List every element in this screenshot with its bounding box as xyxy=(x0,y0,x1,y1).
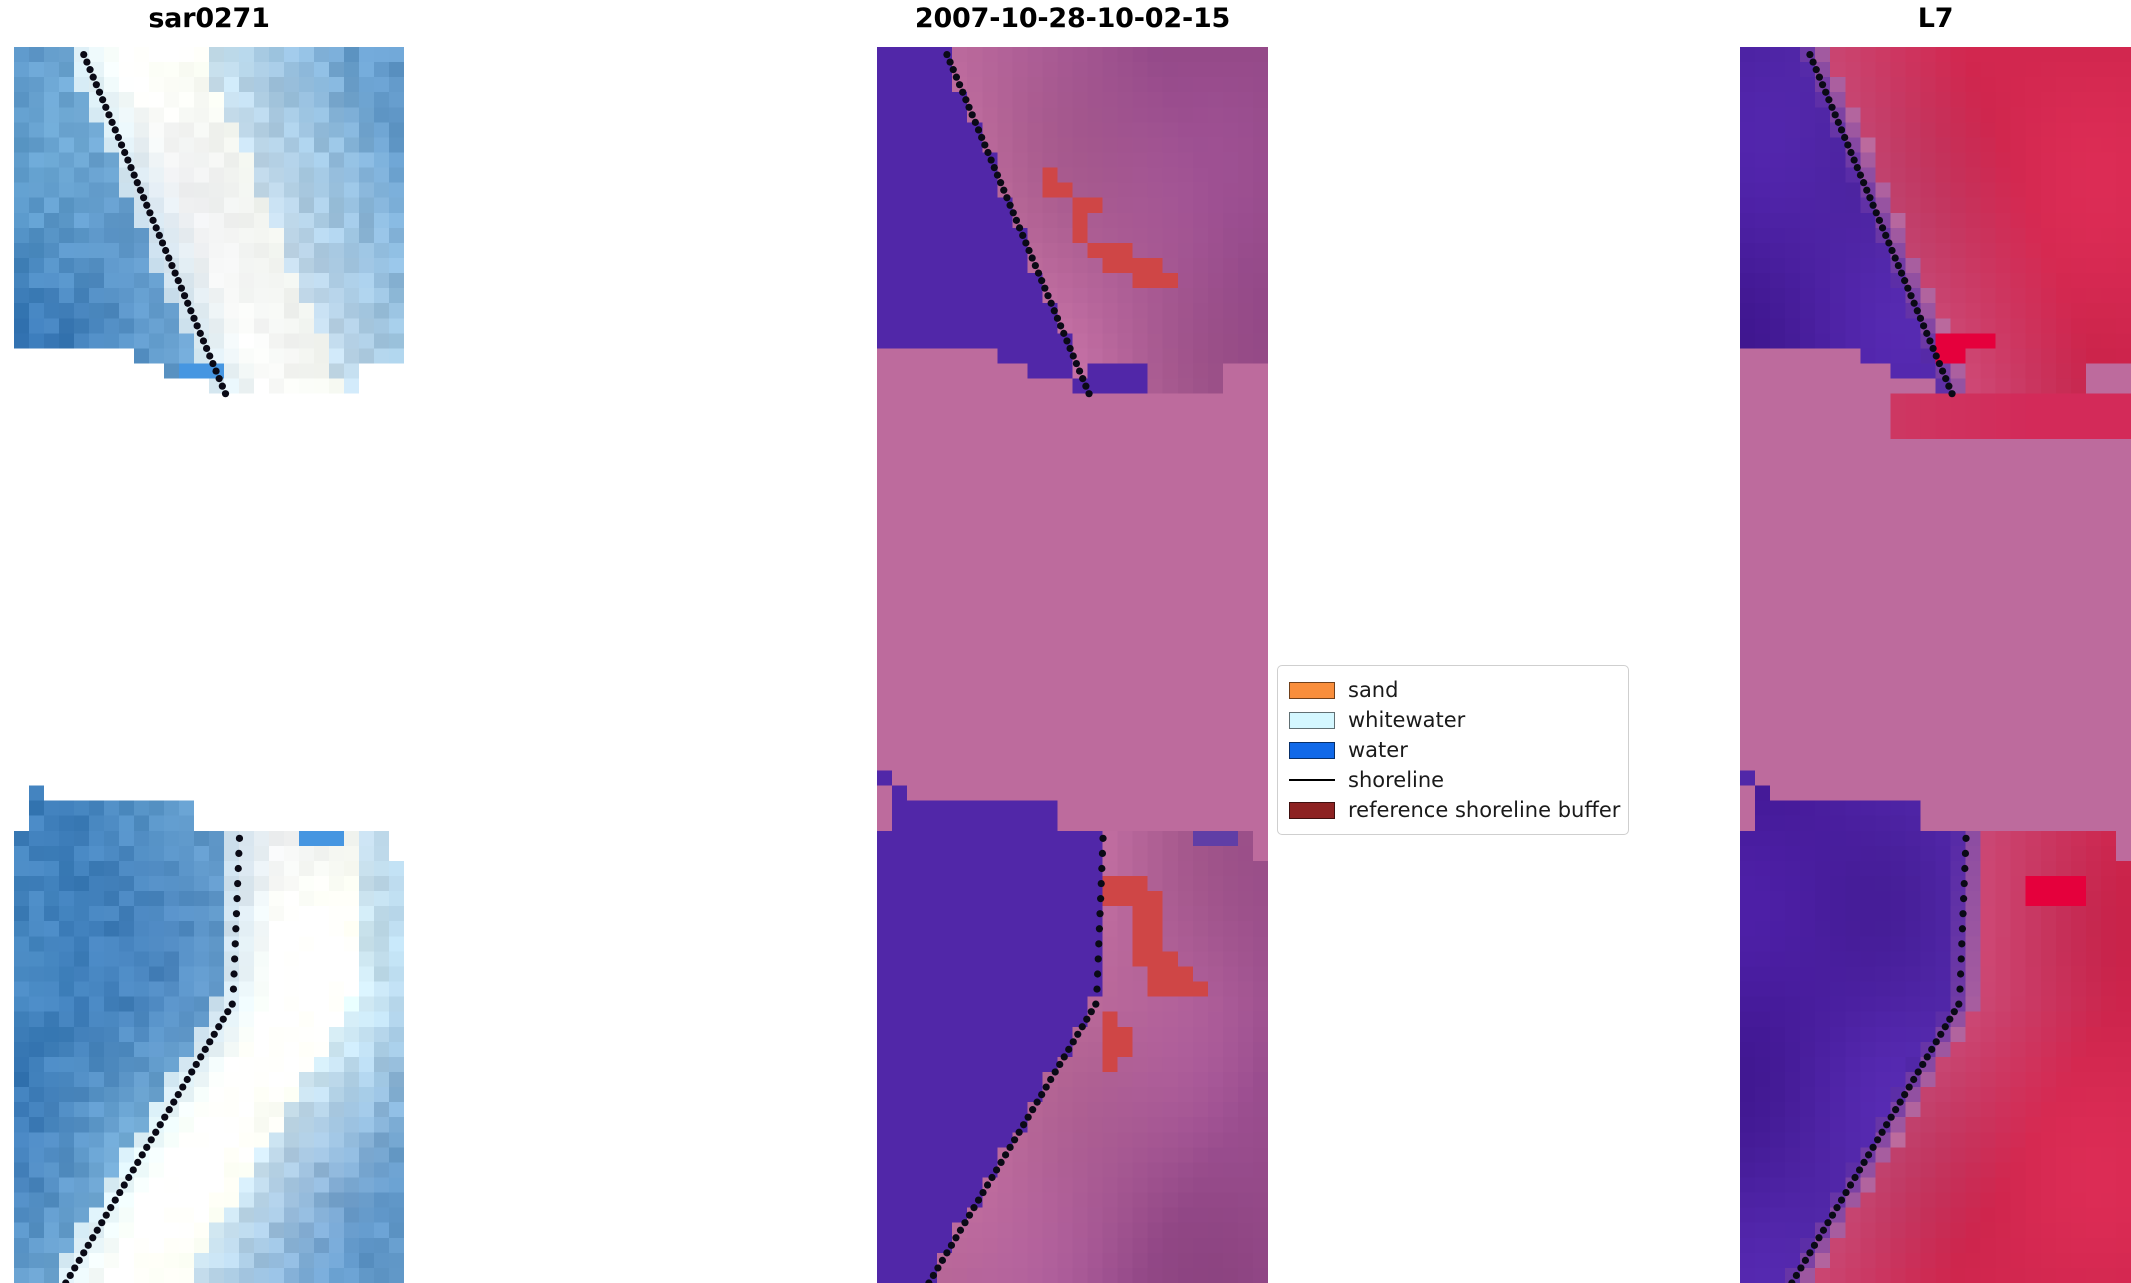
legend-box: sand whitewater water shoreline referenc… xyxy=(1277,665,1629,835)
legend-item-water: water xyxy=(1289,735,1617,765)
figure-canvas: sar0271 2007-10-28-10-02-15 L7 sand whit… xyxy=(0,0,2131,1283)
panel-l7: L7 xyxy=(1740,0,2131,1283)
shoreline-overlay-sar0271 xyxy=(14,47,404,1283)
panel-title-l7: L7 xyxy=(1740,2,2131,36)
legend-item-shoreline: shoreline xyxy=(1289,765,1617,795)
panel-title-date: 2007-10-28-10-02-15 xyxy=(877,2,1268,36)
legend-label-reference-shoreline-buffer: reference shoreline buffer xyxy=(1348,798,1620,822)
axes-sar0271 xyxy=(14,47,404,1283)
legend-label-water: water xyxy=(1348,738,1408,762)
legend-swatch-water xyxy=(1289,742,1335,759)
legend-item-whitewater: whitewater xyxy=(1289,705,1617,735)
legend-item-sand: sand xyxy=(1289,675,1617,705)
legend-swatch-shoreline xyxy=(1289,779,1335,781)
legend-label-shoreline: shoreline xyxy=(1348,768,1444,792)
legend-label-whitewater: whitewater xyxy=(1348,708,1465,732)
axes-l7 xyxy=(1740,47,2131,1283)
panel-2007-10-28-10-02-15: 2007-10-28-10-02-15 xyxy=(877,0,1268,1283)
legend-item-reference-shoreline-buffer: reference shoreline buffer xyxy=(1289,795,1617,825)
axes-date xyxy=(877,47,1268,1283)
panel-title-sar0271: sar0271 xyxy=(14,2,404,36)
legend-swatch-whitewater xyxy=(1289,712,1335,729)
shoreline-overlay-date xyxy=(877,47,1268,1283)
shoreline-overlay-l7 xyxy=(1740,47,2131,1283)
legend-swatch-reference-shoreline-buffer xyxy=(1289,802,1335,819)
legend-label-sand: sand xyxy=(1348,678,1398,702)
legend-swatch-sand xyxy=(1289,682,1335,699)
panel-sar0271: sar0271 xyxy=(14,0,404,1283)
